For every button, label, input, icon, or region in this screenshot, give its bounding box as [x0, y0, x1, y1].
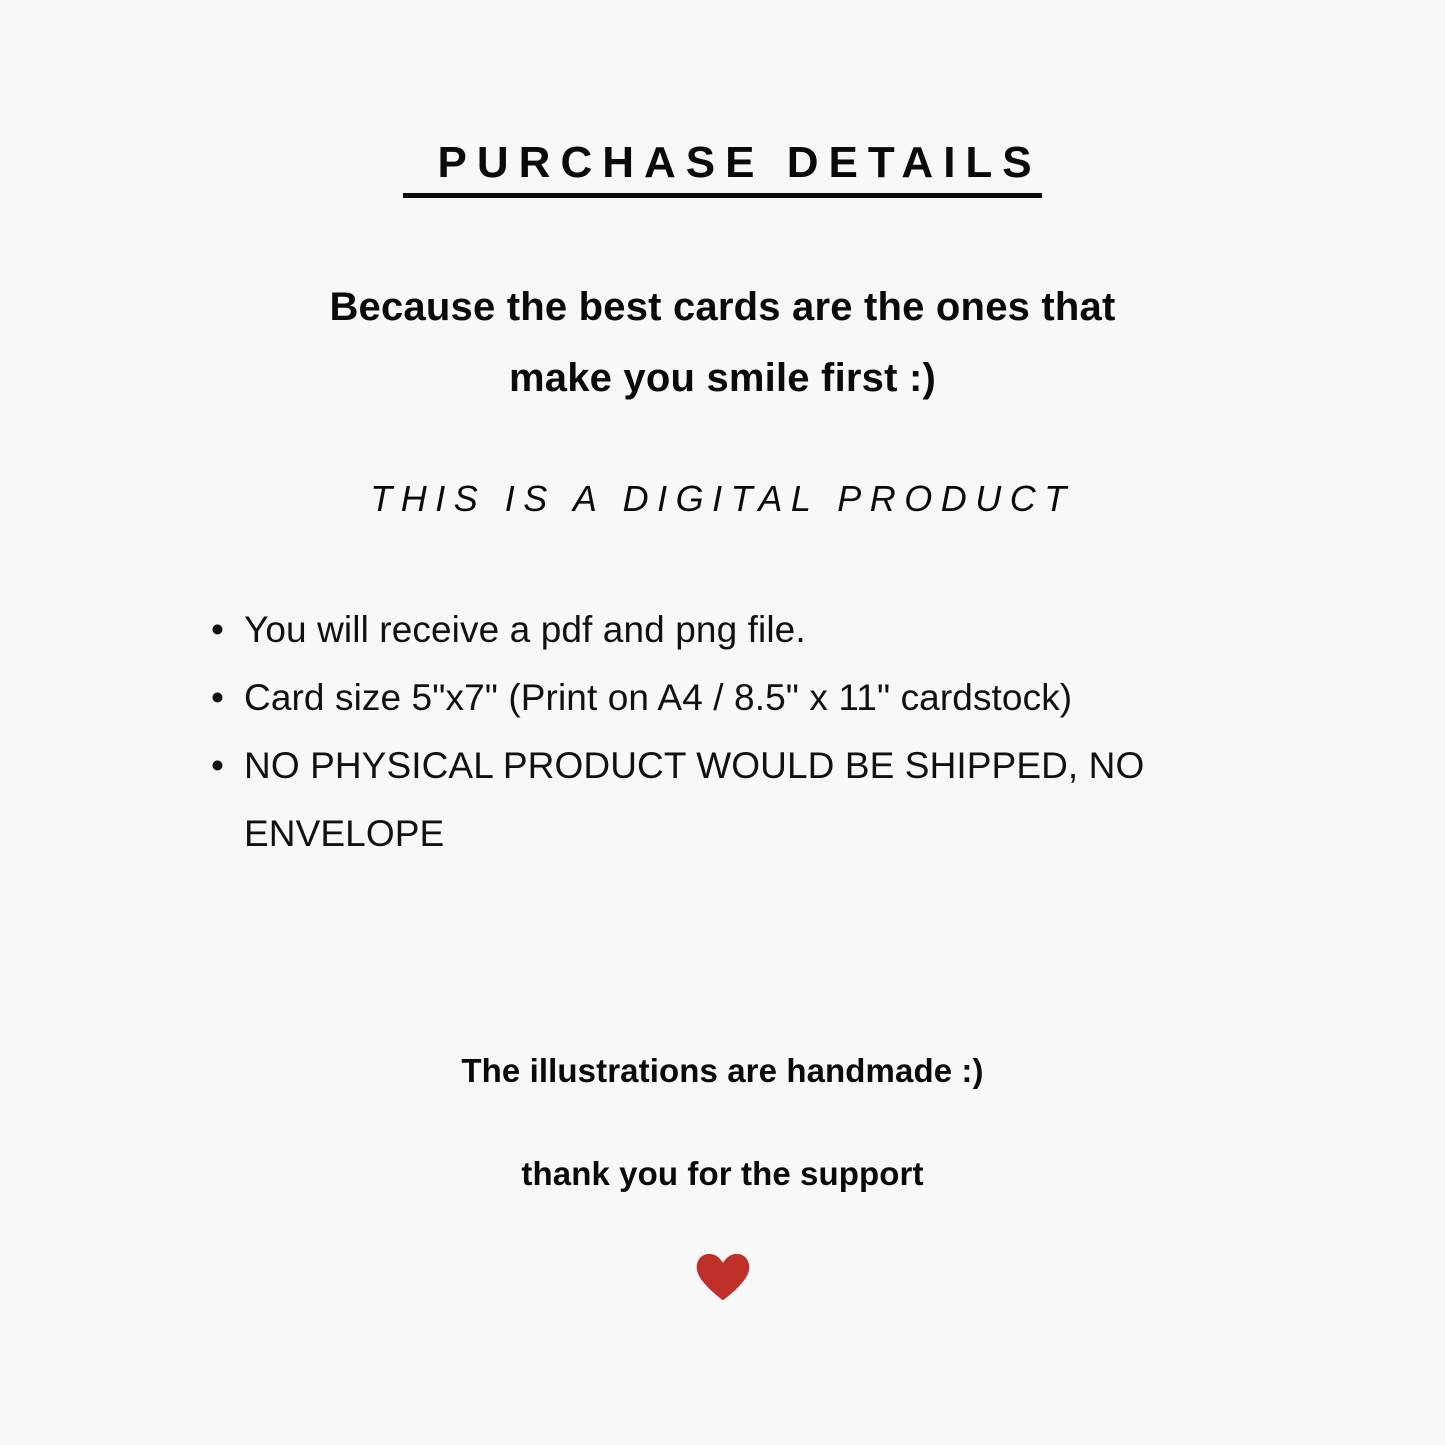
list-item-label: Card size 5"x7" (Print on A4 / 8.5" x 11…: [244, 677, 1072, 718]
tagline-line-2: make you smile first :): [0, 343, 1445, 414]
digital-product-notice: THIS IS A DIGITAL PRODUCT: [0, 478, 1445, 520]
page-title-container: PURCHASE DETAILS: [0, 140, 1445, 198]
thanks-note: thank you for the support: [0, 1155, 1445, 1193]
heart-icon: [696, 1253, 750, 1301]
handmade-note: The illustrations are handmade :): [0, 1052, 1445, 1090]
list-item: • You will receive a pdf and png file.: [208, 596, 1318, 664]
page-title: PURCHASE DETAILS: [403, 140, 1041, 198]
list-item-label: You will receive a pdf and png file.: [244, 609, 806, 650]
bullet-icon: •: [211, 732, 224, 800]
list-item: • NO PHYSICAL PRODUCT WOULD BE SHIPPED, …: [208, 732, 1318, 868]
list-item-label: NO PHYSICAL PRODUCT WOULD BE SHIPPED, NO…: [244, 745, 1144, 854]
purchase-details-page: PURCHASE DETAILS Because the best cards …: [0, 0, 1445, 1445]
bullet-icon: •: [211, 596, 224, 664]
tagline-line-1: Because the best cards are the ones that: [0, 272, 1445, 343]
list-item: • Card size 5"x7" (Print on A4 / 8.5" x …: [208, 664, 1318, 732]
heart-container: [0, 1253, 1445, 1301]
bullet-icon: •: [211, 664, 224, 732]
purchase-details-list: • You will receive a pdf and png file. •…: [208, 596, 1318, 868]
tagline: Because the best cards are the ones that…: [0, 272, 1445, 414]
